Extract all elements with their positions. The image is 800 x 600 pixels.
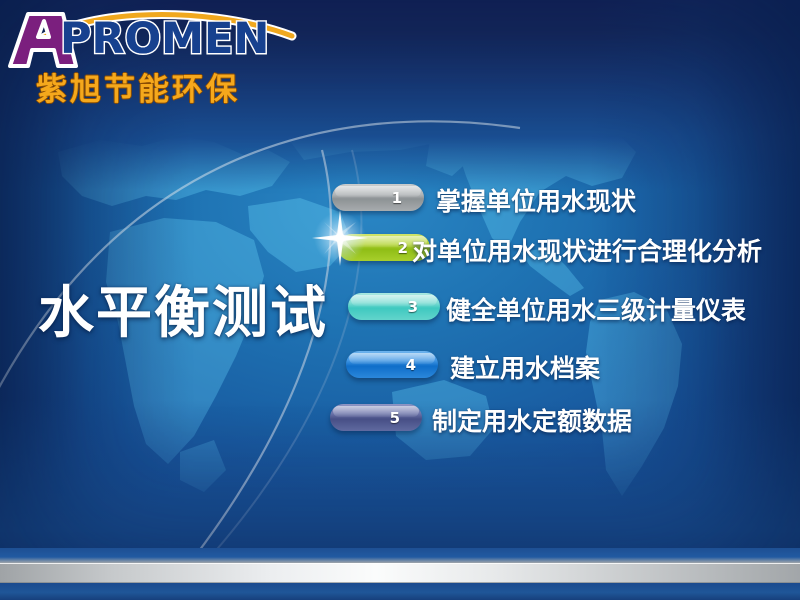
step-label-2: 对单位用水现状进行合理化分析 <box>412 232 762 268</box>
step-number: 3 <box>408 293 418 320</box>
step-label-5: 制定用水定额数据 <box>432 402 632 438</box>
step-badge-4[interactable]: 4 <box>346 351 438 378</box>
step-badge-1[interactable]: 1 <box>332 184 424 211</box>
step-label-1: 掌握单位用水现状 <box>436 182 636 218</box>
step-label-3: 健全单位用水三级计量仪表 <box>446 291 746 327</box>
step-badge-3[interactable]: 3 <box>348 293 440 320</box>
slide-canvas: PROMEN PROMEN 紫旭节能环保 水平衡测试 1 掌握单位用水现状 2 … <box>0 0 800 600</box>
pill-gloss <box>351 295 437 306</box>
footer-silver-bar <box>0 563 800 583</box>
footer-blue-band-bottom <box>0 583 800 600</box>
step-list: 1 掌握单位用水现状 2 对单位用水现状进行合理化分析 3 健全单位用水三级计量… <box>0 0 800 600</box>
step-badge-5[interactable]: 5 <box>330 404 422 431</box>
pill-gloss <box>333 406 419 417</box>
pill-gloss <box>349 353 435 364</box>
step-number: 1 <box>392 184 402 211</box>
footer-blue-band-top <box>0 548 800 563</box>
step-number: 4 <box>406 351 416 378</box>
pill-gloss <box>335 186 421 197</box>
step-label-4: 建立用水档案 <box>450 349 600 385</box>
step-number: 2 <box>398 234 408 261</box>
step-number: 5 <box>390 404 400 431</box>
